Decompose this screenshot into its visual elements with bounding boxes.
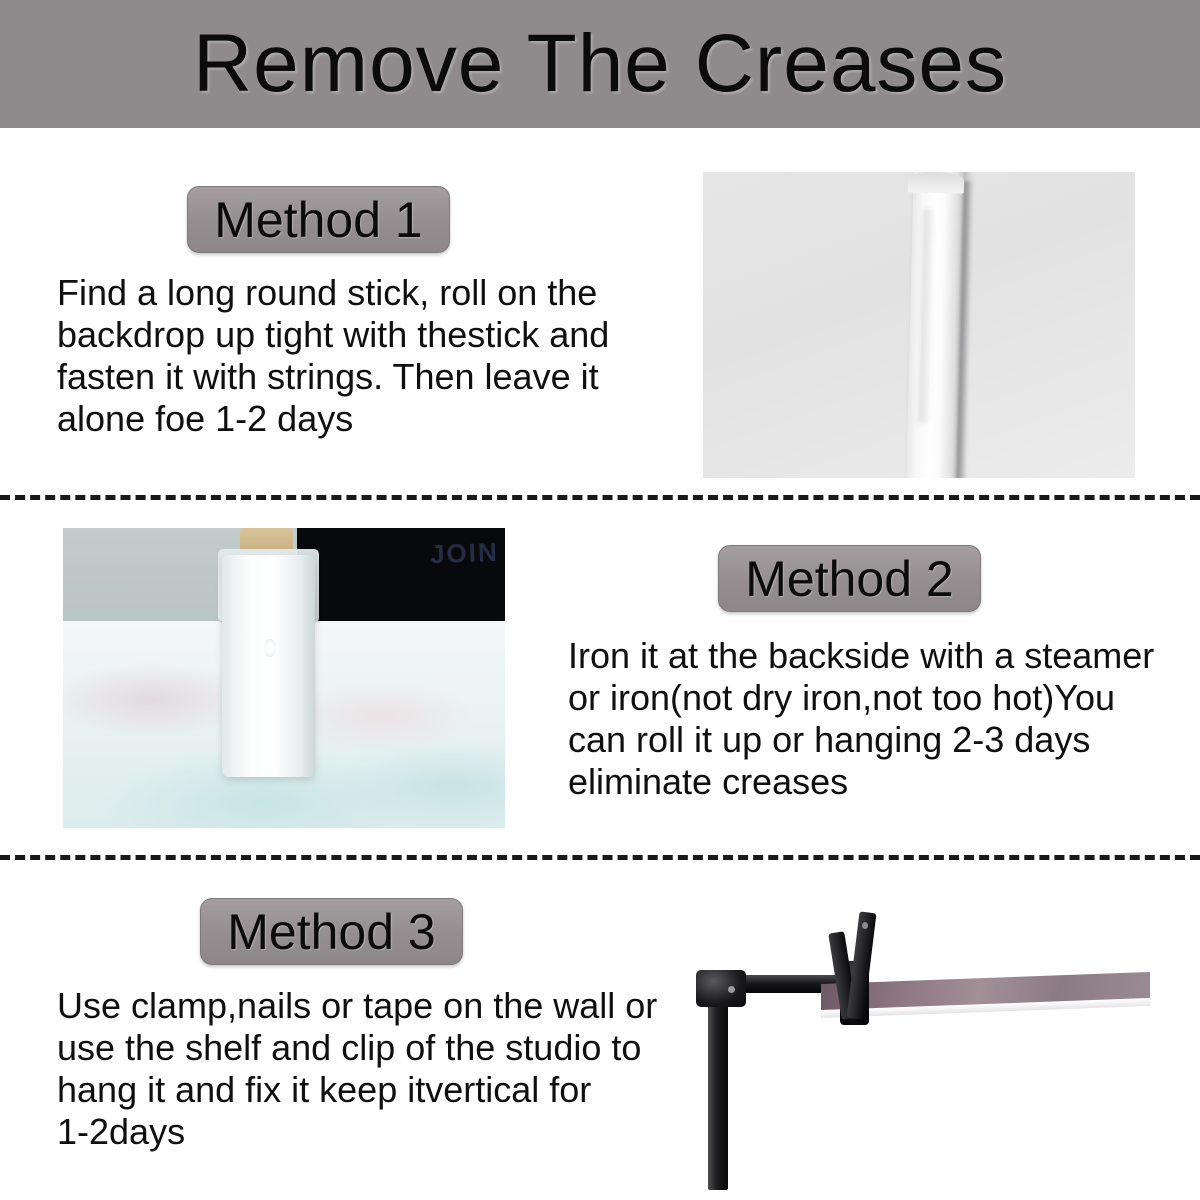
method-1-badge-label: Method 1	[214, 195, 422, 245]
method-1-body-text: Find a long round stick, roll on the bac…	[57, 272, 657, 440]
steamer-photo-dark-panel: JOIN	[297, 528, 505, 624]
method-1-badge: Method 1	[187, 186, 450, 253]
section-divider-1	[0, 495, 1200, 500]
stand-vertical-pole	[708, 996, 727, 1190]
rolled-backdrop-top-end	[908, 172, 965, 194]
header-band: Remove The Creases	[0, 0, 1200, 128]
method-3-badge-label: Method 3	[227, 907, 435, 957]
method-2-body-text: Iron it at the backside with a steamer o…	[568, 635, 1188, 803]
stand-joint-bolt	[728, 986, 735, 994]
method-3-badge: Method 3	[200, 898, 463, 965]
backdrop-bokeh-face	[821, 1004, 1150, 1190]
section-divider-2	[0, 855, 1200, 860]
backdrop-stand-clamp-photo	[690, 900, 1150, 1190]
spring-clamp-pivot-bolt	[862, 922, 868, 929]
page-title: Remove The Creases	[193, 23, 1007, 105]
stand-joint-knuckle	[696, 970, 747, 1008]
method-3-body-text: Use clamp,nails or tape on the wall or u…	[57, 985, 677, 1153]
method-2-badge-label: Method 2	[745, 554, 953, 604]
remove-the-creases-infographic: Remove The Creases Method 1 Find a long …	[0, 0, 1200, 1200]
rolled-backdrop-on-stick-photo	[703, 172, 1135, 478]
method-2-badge: Method 2	[718, 545, 981, 612]
steamer-indicator-light	[264, 639, 275, 657]
handheld-steamer-photo: JOIN	[63, 528, 505, 828]
steamer-body	[222, 555, 315, 777]
steamer-photo-panel-text: JOIN	[430, 536, 500, 569]
